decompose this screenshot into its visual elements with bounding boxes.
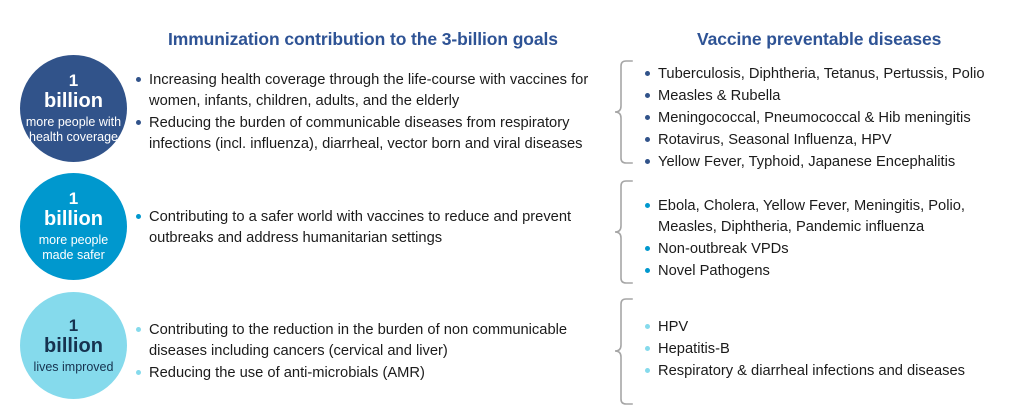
list-item: Novel Pathogens [645, 261, 995, 282]
list-item: Non-outbreak VPDs [645, 239, 995, 260]
list-item: Increasing health coverage through the l… [136, 70, 606, 112]
goal-circle-number: 1 [69, 72, 78, 90]
list-item: Meningococcal, Pneumococcal & Hib mening… [645, 108, 1005, 129]
brace-row-3 [612, 298, 638, 405]
list-item: Respiratory & diarrheal infections and d… [645, 361, 1005, 382]
goal-circle-number: 1 [69, 190, 78, 208]
diseases-list-row-2: Ebola, Cholera, Yellow Fever, Meningitis… [645, 196, 995, 283]
diseases-column-heading: Vaccine preventable diseases [697, 29, 941, 50]
goal-circle-caption: more people made safer [25, 233, 122, 263]
list-item: Hepatitis-B [645, 339, 1005, 360]
goal-circle-unit: billion [44, 209, 103, 230]
list-item: Contributing to a safer world with vacci… [136, 207, 606, 249]
brace-row-2 [612, 180, 638, 284]
goal-circle-made-safer: 1 billion more people made safer [20, 173, 127, 280]
goal-circle-number: 1 [69, 317, 78, 335]
goals-list-row-3: Contributing to the reduction in the bur… [136, 320, 606, 385]
list-item: Reducing the burden of communicable dise… [136, 113, 606, 155]
goal-circle-unit: billion [44, 91, 103, 112]
goal-circle-caption: more people with health coverage [25, 115, 122, 145]
diseases-list-row-1: Tuberculosis, Diphtheria, Tetanus, Pertu… [645, 64, 1005, 173]
list-item: Reducing the use of anti-microbials (AMR… [136, 363, 606, 384]
goals-column-heading: Immunization contribution to the 3-billi… [168, 29, 558, 50]
goals-list-row-1: Increasing health coverage through the l… [136, 70, 606, 156]
goal-circle-unit: billion [44, 336, 103, 357]
list-item: HPV [645, 317, 1005, 338]
brace-row-1 [612, 60, 638, 164]
list-item: Tuberculosis, Diphtheria, Tetanus, Pertu… [645, 64, 1005, 85]
goals-list-row-2: Contributing to a safer world with vacci… [136, 207, 606, 250]
goal-circle-caption: lives improved [34, 360, 114, 375]
list-item: Ebola, Cholera, Yellow Fever, Meningitis… [645, 196, 995, 238]
list-item: Measles & Rubella [645, 86, 1005, 107]
diseases-list-row-3: HPVHepatitis-BRespiratory & diarrheal in… [645, 317, 1005, 383]
list-item: Rotavirus, Seasonal Influenza, HPV [645, 130, 1005, 151]
goal-circle-lives-improved: 1 billion lives improved [20, 292, 127, 399]
goal-circle-health-coverage: 1 billion more people with health covera… [20, 55, 127, 162]
list-item: Yellow Fever, Typhoid, Japanese Encephal… [645, 152, 1005, 173]
list-item: Contributing to the reduction in the bur… [136, 320, 606, 362]
